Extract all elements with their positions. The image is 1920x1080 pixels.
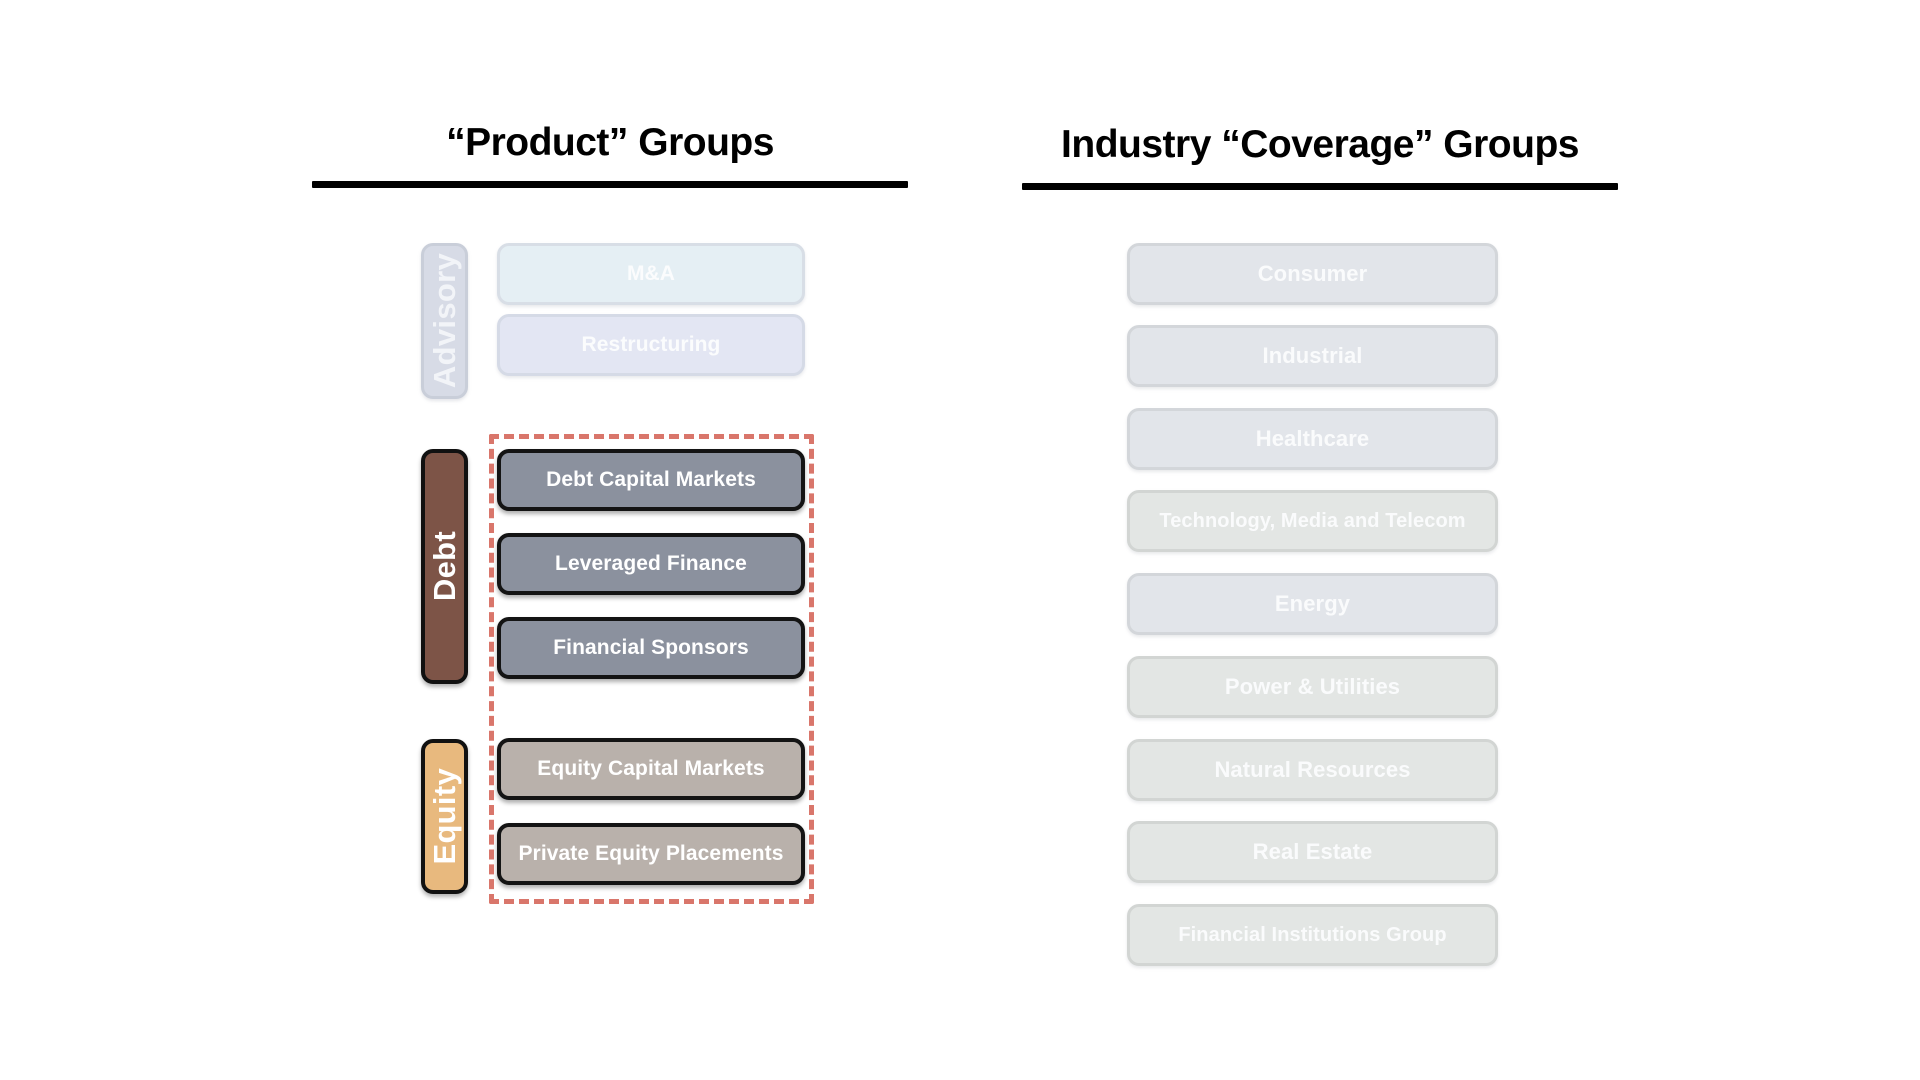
category-bar-advisory-label: Advisory (427, 253, 463, 388)
coverage-item-consumer[interactable]: Consumer (1127, 243, 1498, 305)
product-item-debt-capital-markets-label: Debt Capital Markets (546, 468, 756, 492)
coverage-item-power-utilities[interactable]: Power & Utilities (1127, 656, 1498, 718)
product-item-ma-label: M&A (627, 262, 675, 286)
product-groups-underline (312, 181, 908, 188)
product-item-leveraged-finance[interactable]: Leveraged Finance (497, 533, 805, 595)
coverage-item-natural-resources-label: Natural Resources (1214, 757, 1410, 783)
product-item-equity-capital-markets[interactable]: Equity Capital Markets (497, 738, 805, 800)
category-bar-debt[interactable]: Debt (421, 449, 468, 684)
coverage-item-healthcare-label: Healthcare (1256, 426, 1370, 452)
product-item-debt-capital-markets[interactable]: Debt Capital Markets (497, 449, 805, 511)
coverage-item-energy[interactable]: Energy (1127, 573, 1498, 635)
coverage-item-consumer-label: Consumer (1258, 261, 1368, 287)
coverage-item-industrial[interactable]: Industrial (1127, 325, 1498, 387)
coverage-groups-title: Industry “Coverage” Groups (1022, 124, 1618, 167)
diagram-canvas: “Product” Groups Industry “Coverage” Gro… (0, 0, 1920, 1080)
category-bar-equity-label: Equity (427, 768, 463, 865)
coverage-item-real-estate-label: Real Estate (1253, 839, 1373, 865)
coverage-item-technology-media-telecom-label: Technology, Media and Telecom (1159, 510, 1465, 533)
product-item-financial-sponsors-label: Financial Sponsors (553, 636, 749, 660)
category-bar-advisory[interactable]: Advisory (421, 243, 468, 399)
product-item-leveraged-finance-label: Leveraged Finance (555, 552, 747, 576)
coverage-item-power-utilities-label: Power & Utilities (1225, 674, 1400, 700)
coverage-item-energy-label: Energy (1275, 591, 1350, 617)
product-groups-title: “Product” Groups (312, 122, 908, 165)
product-item-restructuring[interactable]: Restructuring (497, 314, 805, 376)
product-item-private-equity-placements-label: Private Equity Placements (518, 842, 783, 866)
product-item-restructuring-label: Restructuring (582, 333, 721, 357)
coverage-groups-header: Industry “Coverage” Groups (1022, 124, 1618, 190)
coverage-item-technology-media-telecom[interactable]: Technology, Media and Telecom (1127, 490, 1498, 552)
product-item-financial-sponsors[interactable]: Financial Sponsors (497, 617, 805, 679)
category-bar-debt-label: Debt (427, 531, 463, 601)
product-item-ma[interactable]: M&A (497, 243, 805, 305)
coverage-groups-underline (1022, 183, 1618, 190)
coverage-item-financial-institutions-group[interactable]: Financial Institutions Group (1127, 904, 1498, 966)
coverage-item-real-estate[interactable]: Real Estate (1127, 821, 1498, 883)
coverage-item-natural-resources[interactable]: Natural Resources (1127, 739, 1498, 801)
product-item-equity-capital-markets-label: Equity Capital Markets (537, 757, 764, 781)
category-bar-equity[interactable]: Equity (421, 739, 468, 894)
product-groups-header: “Product” Groups (312, 122, 908, 188)
coverage-item-financial-institutions-group-label: Financial Institutions Group (1178, 924, 1446, 947)
product-item-private-equity-placements[interactable]: Private Equity Placements (497, 823, 805, 885)
coverage-item-healthcare[interactable]: Healthcare (1127, 408, 1498, 470)
coverage-item-industrial-label: Industrial (1262, 343, 1362, 369)
